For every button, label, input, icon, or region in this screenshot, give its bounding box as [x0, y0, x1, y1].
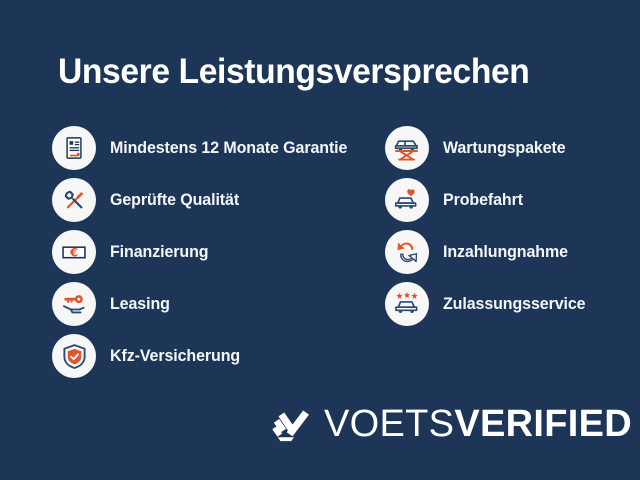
benefit-label: Leasing: [110, 295, 170, 314]
benefit-item-inzahlungnahme: Inzahlungnahme: [385, 230, 635, 274]
benefit-label: Wartungspakete: [443, 139, 566, 158]
brand-name-verified: VERIFIED: [454, 403, 632, 445]
brand-wordmark: VOETSVERIFIED: [324, 405, 632, 443]
page-title: Unsere Leistungsversprechen: [58, 52, 529, 92]
benefit-label: Zulassungsservice: [443, 295, 585, 314]
car-stars-icon: [385, 282, 429, 326]
benefit-item-qualitaet: Geprüfte Qualität: [52, 178, 382, 222]
svg-text:€: €: [69, 246, 78, 260]
benefit-item-versicherung: Kfz-Versicherung: [52, 334, 382, 378]
benefit-label: Geprüfte Qualität: [110, 191, 239, 210]
benefit-item-probefahrt: Probefahrt: [385, 178, 635, 222]
benefit-item-garantie: Mindestens 12 Monate Garantie: [52, 126, 382, 170]
wrench-screwdriver-icon: [52, 178, 96, 222]
car-on-lift-icon: [385, 126, 429, 170]
certificate-document-icon: [52, 126, 96, 170]
benefit-label: Kfz-Versicherung: [110, 347, 240, 366]
benefit-item-finanzierung: € Finanzierung: [52, 230, 382, 274]
benefit-label: Probefahrt: [443, 191, 523, 210]
benefit-item-wartungspakete: Wartungspakete: [385, 126, 635, 170]
promo-banner: Unsere Leistungsversprechen Mindestens 1…: [0, 0, 640, 480]
car-heart-icon: [385, 178, 429, 222]
voets-check-v-mark-icon: [268, 401, 314, 447]
hand-holding-key-icon: [52, 282, 96, 326]
euro-banknote-icon: €: [52, 230, 96, 274]
brand-name-voets: VOETS: [324, 403, 454, 445]
benefit-item-zulassungsservice: Zulassungsservice: [385, 282, 635, 326]
brand-logo: VOETSVERIFIED: [268, 396, 632, 452]
exchange-arrows-icon: [385, 230, 429, 274]
benefits-right-column: Wartungspakete Probefahrt: [385, 126, 635, 334]
shield-check-icon: [52, 334, 96, 378]
benefits-left-column: Mindestens 12 Monate Garantie: [52, 126, 382, 386]
benefit-label: Inzahlungnahme: [443, 243, 568, 262]
benefit-label: Finanzierung: [110, 243, 208, 262]
benefit-item-leasing: Leasing: [52, 282, 382, 326]
benefit-label: Mindestens 12 Monate Garantie: [110, 139, 347, 158]
